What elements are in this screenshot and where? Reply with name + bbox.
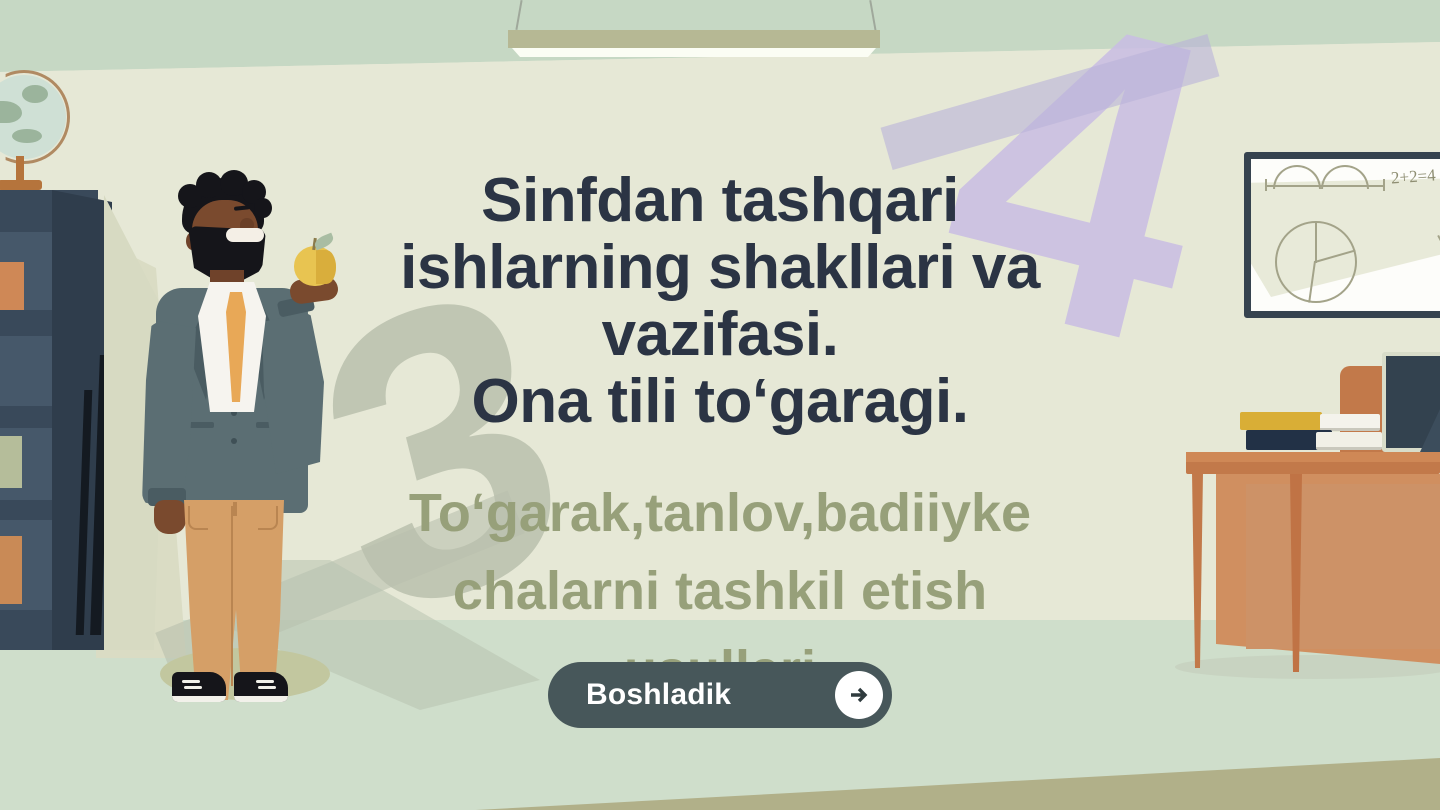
whiteboard: 2+2=4 <box>1244 152 1440 318</box>
whiteboard-tick <box>1383 179 1385 191</box>
book <box>0 536 22 604</box>
start-button-label: Boshladik <box>586 678 835 712</box>
shoelace <box>182 680 200 683</box>
globe-stem <box>16 156 24 182</box>
whiteboard-equation: 2+2=4 <box>1390 165 1436 188</box>
belt-loop <box>233 502 237 516</box>
shoelace <box>258 686 276 689</box>
shoe-sole <box>172 696 226 702</box>
hair-curl <box>196 172 222 198</box>
ceiling-lamp <box>508 30 880 48</box>
book <box>0 436 22 488</box>
desk-front-panel <box>1246 484 1440 649</box>
shoelace <box>184 686 202 689</box>
presentation-slide: 4 3 <box>0 0 1440 810</box>
shoe-sole <box>234 696 288 702</box>
shoelace <box>256 680 274 683</box>
arrow-right-icon <box>835 671 883 719</box>
jacket-button <box>231 438 237 444</box>
teacher-illustration <box>130 170 360 710</box>
trouser-seam <box>231 506 233 686</box>
whiteboard-radius <box>1315 221 1317 263</box>
desk-top-highlight <box>1186 452 1440 462</box>
trouser-pocket-right <box>258 506 278 530</box>
desk-book-yellow <box>1240 412 1322 430</box>
desk-book-white <box>1316 432 1382 450</box>
hair-curl <box>254 198 272 218</box>
shoe-right <box>234 672 288 702</box>
desk-book-white <box>1320 414 1380 431</box>
shoe-left <box>172 672 226 702</box>
hand-left <box>154 500 186 534</box>
book <box>0 262 24 310</box>
trousers <box>180 500 288 700</box>
apple-shading <box>316 250 336 284</box>
whiteboard-axis-line <box>1265 185 1385 187</box>
smile <box>226 228 264 242</box>
start-button[interactable]: Boshladik <box>548 662 892 728</box>
trouser-pocket-left <box>188 506 208 530</box>
lamp-glow <box>512 48 876 57</box>
shelf-slot <box>0 336 60 406</box>
whiteboard-tick <box>1265 179 1267 191</box>
globe-base <box>0 180 42 190</box>
